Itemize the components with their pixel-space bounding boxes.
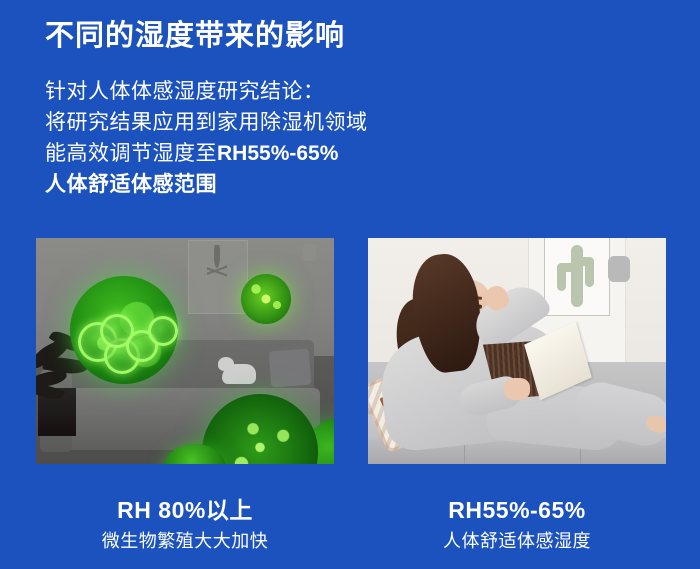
photo-high-humidity	[36, 238, 334, 464]
body-copy-line-3: 能高效调节湿度至RH55%-65%	[45, 138, 368, 169]
dim-room-scene	[36, 238, 334, 464]
caption-comfort-humidity: RH55%-65% 人体舒适体感湿度	[368, 496, 666, 554]
caption-sub-label: 人体舒适体感湿度	[368, 528, 666, 554]
cactus-icon	[571, 245, 583, 307]
microbe-ring	[148, 316, 178, 346]
body-copy-line-4: 人体舒适体感范围	[45, 169, 368, 200]
caption-sub-label: 微生物繁殖大大加快	[36, 528, 334, 554]
caption-main-label: RH 80%以上	[36, 496, 334, 524]
dim-sofa-cushion	[269, 349, 311, 388]
caption-main-label: RH55%-65%	[368, 496, 666, 524]
body-copy: 针对人体体感湿度研究结论： 将研究结果应用到家用除湿机领域 能高效调节湿度至RH…	[45, 76, 368, 200]
wall-switch-icon	[303, 244, 316, 261]
body-copy-line-3-highlight: RH55%-65%	[217, 142, 338, 165]
infographic-page: 不同的湿度带来的影响 针对人体体感湿度研究结论： 将研究结果应用到家用除湿机领域…	[0, 0, 700, 569]
cactus-art-frame-icon	[544, 238, 610, 316]
photo-comfort-humidity	[368, 238, 666, 464]
dim-cat-pillow	[222, 364, 256, 384]
woman-hand-on-book	[504, 378, 530, 400]
microbe-small	[241, 274, 291, 324]
body-copy-line-2: 将研究结果应用到家用除湿机领域	[45, 107, 368, 138]
bright-room-scene	[368, 238, 666, 464]
body-copy-line-1: 针对人体体感湿度研究结论：	[45, 76, 368, 107]
cactus-icon	[576, 257, 594, 266]
page-title: 不同的湿度带来的影响	[45, 16, 345, 56]
microbe-large	[70, 276, 178, 384]
cactus-icon	[557, 263, 579, 272]
wall-art-frame-icon	[188, 240, 248, 314]
body-copy-line-3-regular: 能高效调节湿度至	[45, 142, 217, 165]
caption-high-humidity: RH 80%以上 微生物繁殖大大加快	[36, 496, 334, 554]
wall-speaker-icon	[608, 256, 630, 282]
